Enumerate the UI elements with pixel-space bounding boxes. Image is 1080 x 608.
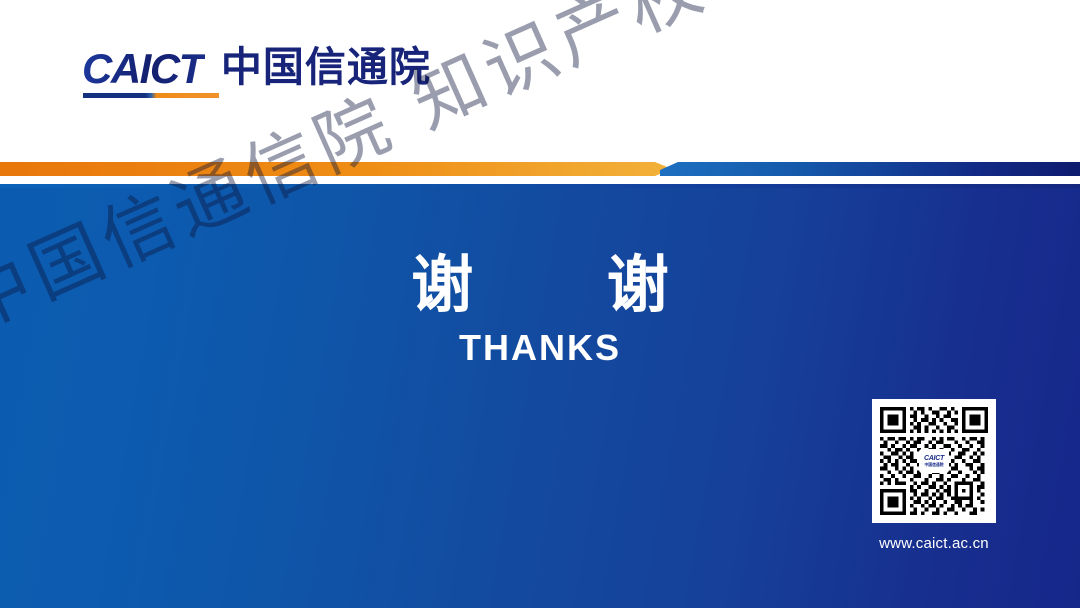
lower-blue-accent-bar (0, 184, 1080, 188)
slide-canvas: 中国信通信院 知识产权与创新发展中心 CAICT 中国信通院 (0, 0, 1080, 608)
thanks-chinese-text: 谢 谢 (0, 252, 1080, 319)
qr-code-icon[interactable]: CAICT 中国信通院 (872, 399, 996, 523)
caict-logo-underline (83, 93, 219, 98)
caict-logo-latin: CAICT (82, 45, 205, 92)
qr-center-logo-chinese: 中国信通院 (925, 463, 944, 467)
qr-center-logo: CAICT 中国信通院 (919, 449, 949, 473)
accent-bars-svg (0, 158, 1080, 188)
qr-center-logo-latin: CAICT (924, 455, 944, 462)
caict-logo: CAICT 中国信通院 (82, 48, 431, 90)
website-url[interactable]: www.caict.ac.cn (872, 535, 996, 552)
caict-logo-chinese: 中国信通院 (221, 47, 431, 88)
blue-accent-bar (660, 162, 1080, 176)
orange-accent-bar (0, 162, 672, 176)
accent-bar-group (0, 158, 1080, 188)
thanks-english-text: THANKS (0, 325, 1080, 372)
caict-logo-mark: CAICT (82, 48, 205, 90)
thanks-block: 谢 谢 THANKS (0, 252, 1080, 372)
qr-section: CAICT 中国信通院 www.caict.ac.cn (872, 399, 996, 552)
header-band: CAICT 中国信通院 (0, 0, 1080, 160)
